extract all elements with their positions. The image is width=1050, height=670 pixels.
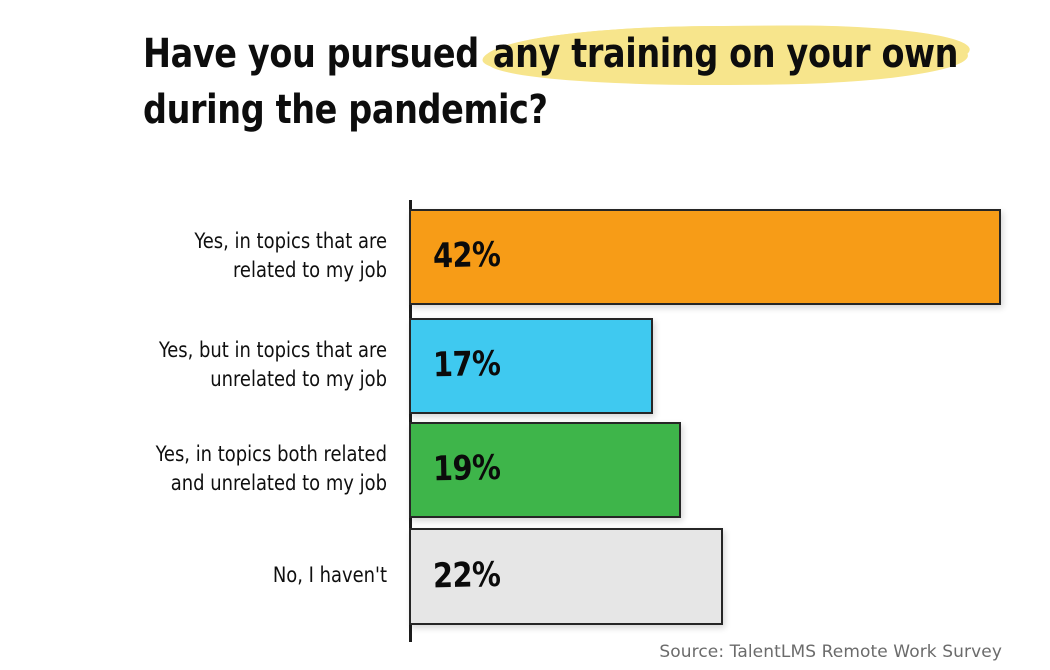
category-label-line: No, I haven't: [74, 561, 388, 590]
bar-value-label: 22%: [433, 557, 501, 592]
category-label-line: and unrelated to my job: [74, 469, 388, 498]
bar-value-label: 17%: [433, 347, 501, 382]
category-label-line: Yes, in topics both related: [74, 440, 388, 469]
category-label: Yes, but in topics that are unrelated to…: [74, 336, 388, 394]
bar-segment[interactable]: 22%: [409, 528, 723, 625]
category-label-line: Yes, in topics that are: [74, 227, 388, 256]
bar-segment[interactable]: 42%: [409, 209, 1001, 305]
category-label: No, I haven't: [74, 561, 388, 590]
category-label-line: unrelated to my job: [74, 365, 388, 394]
bar-chart: Yes, in topics that are related to my jo…: [0, 0, 1050, 670]
bar-segment[interactable]: 17%: [409, 318, 653, 414]
source-note: Source: TalentLMS Remote Work Survey: [659, 642, 1002, 662]
category-label: Yes, in topics both related and unrelate…: [74, 440, 388, 498]
category-label: Yes, in topics that are related to my jo…: [74, 227, 388, 285]
category-label-line: related to my job: [74, 256, 388, 285]
bar-value-label: 19%: [433, 451, 501, 486]
bar-segment[interactable]: 19%: [409, 422, 681, 518]
bar-value-label: 42%: [433, 238, 501, 273]
category-label-line: Yes, but in topics that are: [74, 336, 388, 365]
